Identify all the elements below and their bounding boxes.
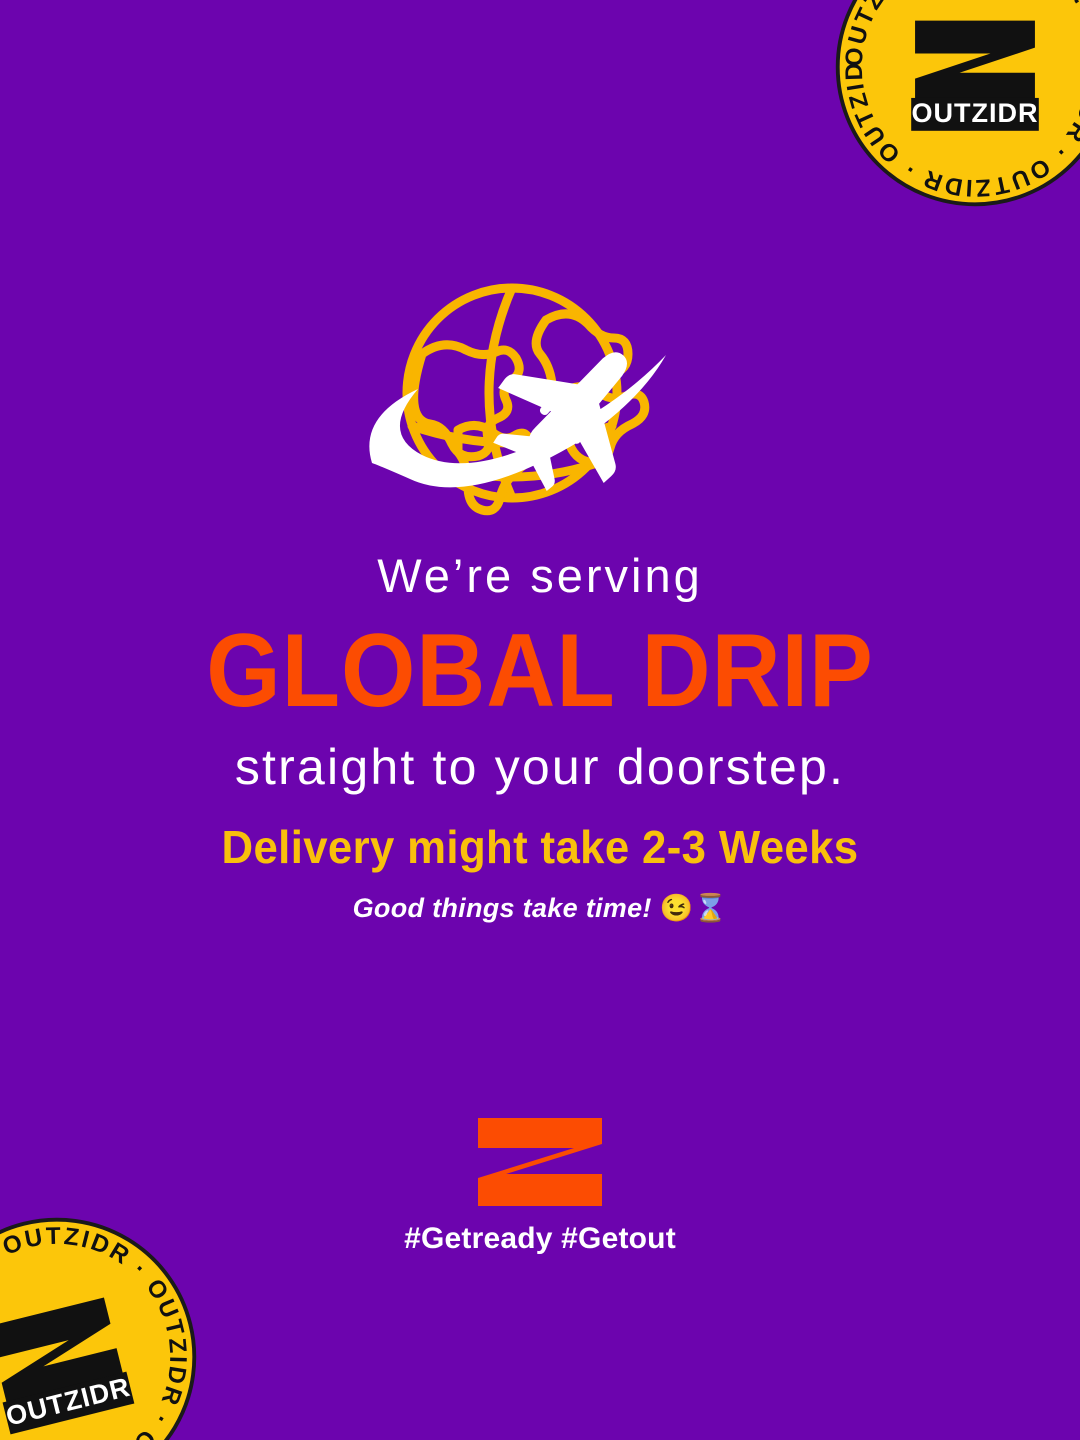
svg-text:OUTZIDR: OUTZIDR bbox=[912, 98, 1039, 128]
delivery-estimate: Delivery might take 2-3 Weeks bbox=[27, 820, 1053, 874]
delivery-note-block: Delivery might take 2-3 Weeks Good thing… bbox=[0, 820, 1080, 924]
page-title: GLOBAL DRIP bbox=[43, 619, 1037, 723]
serving-line: We’re serving bbox=[0, 548, 1080, 603]
promo-poster: We’re serving GLOBAL DRIP straight to yo… bbox=[0, 0, 1080, 1440]
delivery-subtext-words: Good things take time! bbox=[353, 893, 660, 923]
globe-with-airplane-icon bbox=[350, 268, 730, 518]
wink-hourglass-emoji: 😉⌛ bbox=[660, 893, 728, 923]
z-logo-icon bbox=[478, 1118, 602, 1206]
headline-copy-block: We’re serving GLOBAL DRIP straight to yo… bbox=[0, 548, 1080, 797]
outzidr-stamp-top-right: OUTZIDR · OUTZIDR · OUTZIDR · OUTZIDR · … bbox=[830, 0, 1080, 212]
stamp-center-mark: OUTZIDR bbox=[911, 21, 1039, 131]
delivery-subtext: Good things take time! 😉⌛ bbox=[0, 892, 1080, 924]
doorstep-line: straight to your doorstep. bbox=[0, 737, 1080, 797]
